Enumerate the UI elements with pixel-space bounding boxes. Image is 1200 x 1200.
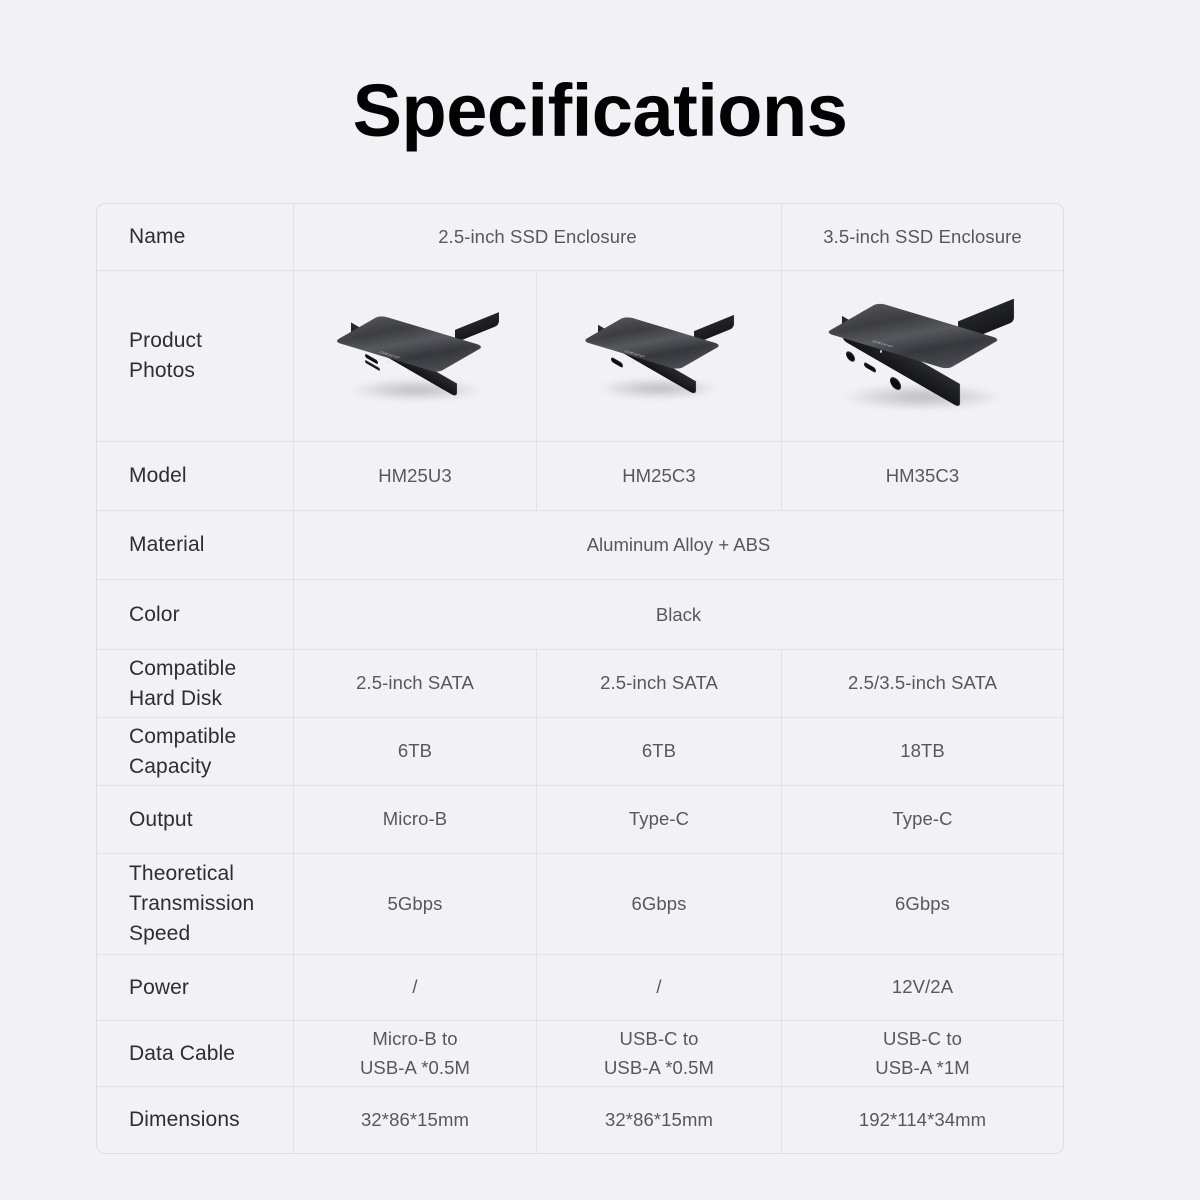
cell-cable-hm25u3: Micro-B to USB-A *0.5M (294, 1021, 537, 1086)
row-label-color: Color (97, 580, 294, 649)
specifications-page: Specifications Name 2.5-inch SSD Enclosu… (0, 0, 1200, 1200)
product-shadow (598, 378, 718, 399)
cell-photo-hm25u3: ORICO (294, 271, 537, 441)
row-label-dimensions: Dimensions (97, 1087, 294, 1153)
cell-hard-disk-hm25c3: 2.5-inch SATA (537, 650, 782, 717)
table-row-product-photos: Product Photos ORICO (97, 271, 1063, 442)
page-title: Specifications (0, 74, 1200, 148)
cell-output-hm25c3: Type-C (537, 786, 782, 853)
cell-power-hm25c3: / (537, 955, 782, 1020)
cell-output-hm25u3: Micro-B (294, 786, 537, 853)
cell-cable-hm25c3: USB-C to USB-A *0.5M (537, 1021, 782, 1086)
cell-capacity-hm25c3: 6TB (537, 718, 782, 785)
table-row-color: Color Black (97, 580, 1063, 650)
table-row-compatible-hard-disk: Compatible Hard Disk 2.5-inch SATA 2.5-i… (97, 650, 1063, 718)
led-indicator-icon (387, 361, 390, 364)
table-row-output: Output Micro-B Type-C Type-C (97, 786, 1063, 854)
product-image-hm25u3: ORICO (302, 271, 528, 441)
type-c-port-icon (611, 357, 623, 369)
product-shadow (351, 379, 481, 401)
row-label-material: Material (97, 511, 294, 579)
cell-material-all: Aluminum Alloy + ABS (294, 511, 1063, 579)
cell-capacity-hm25u3: 6TB (294, 718, 537, 785)
cell-model-hm25u3: HM25U3 (294, 442, 537, 510)
cell-color-all: Black (294, 580, 1063, 649)
cell-model-hm25c3: HM25C3 (537, 442, 782, 510)
cell-dimensions-hm25c3: 32*86*15mm (537, 1087, 782, 1153)
table-row-power: Power / / 12V/2A (97, 955, 1063, 1021)
row-label-model: Model (97, 442, 294, 510)
table-row-material: Material Aluminum Alloy + ABS (97, 511, 1063, 580)
cell-power-hm25u3: / (294, 955, 537, 1020)
row-label-data-cable: Data Cable (97, 1021, 294, 1086)
table-row-compatible-capacity: Compatible Capacity 6TB 6TB 18TB (97, 718, 1063, 786)
product-image-hm25c3: ORICO (545, 271, 773, 441)
cell-name-35inch: 3.5-inch SSD Enclosure (782, 204, 1063, 270)
row-label-compatible-capacity: Compatible Capacity (97, 718, 294, 785)
cell-output-hm35c3: Type-C (782, 786, 1063, 853)
product-side-face (455, 312, 499, 343)
cell-cable-hm35c3: USB-C to USB-A *1M (782, 1021, 1063, 1086)
product-top-face (582, 316, 722, 370)
cell-dimensions-hm25u3: 32*86*15mm (294, 1087, 537, 1153)
table-row-dimensions: Dimensions 32*86*15mm 32*86*15mm 192*114… (97, 1087, 1063, 1153)
led-indicator-icon (632, 360, 635, 363)
table-row-model: Model HM25U3 HM25C3 HM35C3 (97, 442, 1063, 511)
cell-model-hm35c3: HM35C3 (782, 442, 1063, 510)
cell-speed-hm25u3: 5Gbps (294, 854, 537, 954)
cell-hard-disk-hm25u3: 2.5-inch SATA (294, 650, 537, 717)
cell-speed-hm35c3: 6Gbps (782, 854, 1063, 954)
cell-name-25inch: 2.5-inch SSD Enclosure (294, 204, 782, 270)
specifications-table: Name 2.5-inch SSD Enclosure 3.5-inch SSD… (96, 203, 1064, 1154)
table-row-data-cable: Data Cable Micro-B to USB-A *0.5M USB-C … (97, 1021, 1063, 1087)
product-image-hm35c3: ORICO (790, 271, 1055, 441)
cell-hard-disk-hm35c3: 2.5/3.5-inch SATA (782, 650, 1063, 717)
cell-capacity-hm35c3: 18TB (782, 718, 1063, 785)
row-label-product-photos: Product Photos (97, 271, 294, 441)
dc-power-jack-icon (846, 349, 855, 363)
product-shadow (842, 384, 1002, 410)
type-c-port-icon (864, 362, 876, 374)
table-row-name: Name 2.5-inch SSD Enclosure 3.5-inch SSD… (97, 204, 1063, 271)
cell-power-hm35c3: 12V/2A (782, 955, 1063, 1020)
row-label-power: Power (97, 955, 294, 1020)
row-label-name: Name (97, 204, 294, 270)
cell-dimensions-hm35c3: 192*114*34mm (782, 1087, 1063, 1153)
row-label-output: Output (97, 786, 294, 853)
cell-photo-hm25c3: ORICO (537, 271, 782, 441)
cell-speed-hm25c3: 6Gbps (537, 854, 782, 954)
led-indicator-icon (880, 350, 883, 353)
table-row-transmission-speed: Theoretical Transmission Speed 5Gbps 6Gb… (97, 854, 1063, 955)
row-label-compatible-hard-disk: Compatible Hard Disk (97, 650, 294, 717)
row-label-transmission-speed: Theoretical Transmission Speed (97, 854, 294, 954)
cell-photo-hm35c3: ORICO (782, 271, 1063, 441)
product-top-face (334, 315, 484, 373)
